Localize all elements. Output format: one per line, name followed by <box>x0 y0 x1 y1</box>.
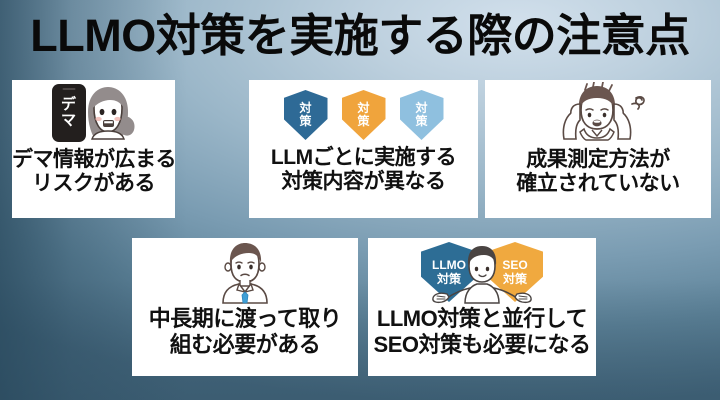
card-3-caption-line1: 成果測定方法が <box>485 148 711 172</box>
card-1-caption: デマ情報が広まる リスクがある <box>12 146 175 197</box>
shrugging-person-icon <box>407 240 557 304</box>
card-4-caption: 中長期に渡って取り 組む必要がある <box>132 304 358 357</box>
stressed-person-icon <box>540 82 656 146</box>
card-llm-differs[interactable]: 対 策 対 策 対 策 LLMごとに実施する 対策内容が異なる <box>249 80 478 218</box>
phone-label-line2: マ <box>61 113 76 129</box>
shield-taisaku-lightblue: 対 策 <box>400 90 444 140</box>
card-no-measurement[interactable]: 成果測定方法が 確立されていない <box>485 80 711 218</box>
smartphone-rumor-icon: デ マ <box>52 84 86 142</box>
card-2-illustration: 対 策 対 策 対 策 <box>249 80 478 142</box>
shield-taisaku-orange: 対 策 <box>342 90 386 140</box>
card-long-term-effort[interactable]: 中長期に渡って取り 組む必要がある <box>132 238 358 376</box>
card-1-caption-line1: デマ情報が広まる <box>12 148 175 172</box>
card-5-caption: LLMO対策と並行して SEO対策も必要になる <box>368 304 596 357</box>
page-title: LLMO対策を実施する際の注意点 <box>0 8 720 64</box>
worried-businessman-icon <box>199 240 291 304</box>
card-5-caption-line2: SEO対策も必要になる <box>368 332 596 358</box>
card-2-caption-line2: 対策内容が異なる <box>249 170 478 194</box>
card-dema-risk[interactable]: デ マ デマ情報が広まる リスクがある <box>12 80 175 218</box>
card-5-caption-line1: LLMO対策と並行して <box>368 306 596 332</box>
shield-taisaku-blue: 対 策 <box>284 90 328 140</box>
three-shields-icon: 対 策 対 策 対 策 <box>284 90 444 142</box>
card-seo-parallel[interactable]: LLMO 対策 SEO 対策 <box>368 238 596 376</box>
card-5-illustration: LLMO 対策 SEO 対策 <box>368 238 596 304</box>
phone-rumor-woman-icon: デ マ <box>44 82 144 146</box>
card-4-caption-line1: 中長期に渡って取り <box>132 306 358 332</box>
two-shields-person-icon: LLMO 対策 SEO 対策 <box>407 240 557 304</box>
card-4-illustration <box>132 238 358 304</box>
shield-label-line2: 策 <box>357 115 369 128</box>
slide-canvas: LLMO対策を実施する際の注意点 <box>0 0 720 400</box>
card-3-illustration <box>485 80 711 146</box>
shield-label-line2: 策 <box>415 115 427 128</box>
card-2-caption-line1: LLMごとに実施する <box>249 146 478 170</box>
card-1-illustration: デ マ <box>12 80 175 146</box>
card-3-caption: 成果測定方法が 確立されていない <box>485 146 711 197</box>
shield-label-line2: 策 <box>299 115 311 128</box>
card-4-caption-line2: 組む必要がある <box>132 332 358 358</box>
card-2-caption: LLMごとに実施する 対策内容が異なる <box>249 142 478 195</box>
phone-notch <box>62 88 75 90</box>
card-1-caption-line2: リスクがある <box>12 172 175 196</box>
card-3-caption-line2: 確立されていない <box>485 172 711 196</box>
phone-label-line1: デ <box>61 97 76 113</box>
